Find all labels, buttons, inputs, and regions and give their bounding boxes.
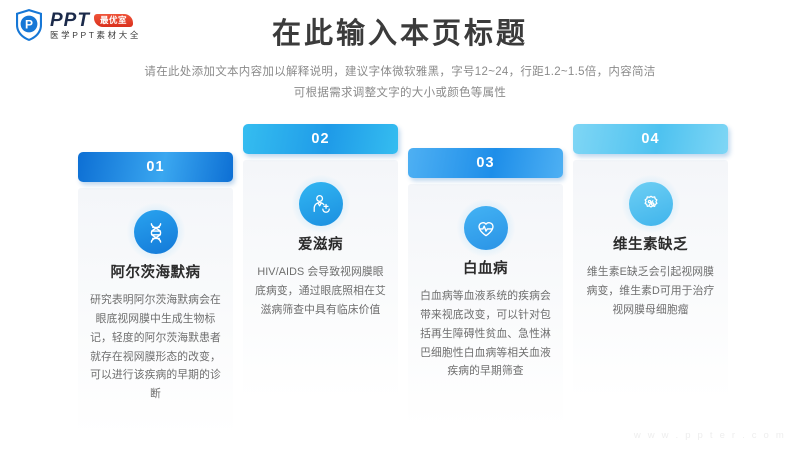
- card-03-number: 03: [476, 155, 494, 171]
- virus-cell-icon: [629, 182, 673, 226]
- card-03-icon-wrap: [464, 206, 508, 250]
- site-watermark: w w w . p p t e r . c o m: [634, 430, 786, 441]
- dna-icon: [134, 210, 178, 254]
- card-04-text: 维生素E缺乏会引起视网膜病变，维生素D可用于治疗视网膜母细胞瘤: [583, 263, 718, 320]
- card-04-body: 维生素缺乏 维生素E缺乏会引起视网膜病变，维生素D可用于治疗视网膜母细胞瘤: [573, 160, 728, 400]
- card-02-text: HIV/AIDS 会导致视网膜眼底病变，通过眼底照相在艾滋病筛查中具有临床价值: [253, 263, 388, 320]
- card-03-text: 白血病等血液系统的疾病会带来视底改变，可以针对包括再生障碍性贫血、急性淋巴细胞性…: [418, 287, 553, 381]
- card-04-number-badge: 04: [573, 124, 728, 154]
- card-01-title: 阿尔茨海默病: [88, 264, 223, 283]
- card-03-body: 白血病 白血病等血液系统的疾病会带来视底改变，可以针对包括再生障碍性贫血、急性淋…: [408, 184, 563, 428]
- card-02-number-badge: 02: [243, 124, 398, 154]
- card-02-number: 02: [311, 131, 329, 147]
- card-01-icon-wrap: [134, 210, 178, 254]
- card-02[interactable]: 02 爱滋病 HIV/AIDS 会导致视网膜眼底病变，通过眼底照相在艾滋病筛查中…: [243, 124, 398, 400]
- card-03-title: 白血病: [418, 260, 553, 279]
- card-02-title: 爱滋病: [253, 236, 388, 255]
- doctor-icon: [299, 182, 343, 226]
- card-03[interactable]: 03 白血病 白血病等血液系统的疾病会带来视底改变，可以针对包括再生障碍性贫血、…: [408, 148, 563, 428]
- card-02-icon-wrap: [299, 182, 343, 226]
- card-01-number: 01: [146, 159, 164, 175]
- card-04-icon-wrap: [629, 182, 673, 226]
- card-02-body: 爱滋病 HIV/AIDS 会导致视网膜眼底病变，通过眼底照相在艾滋病筛查中具有临…: [243, 160, 398, 400]
- card-04-title: 维生素缺乏: [583, 236, 718, 255]
- card-04[interactable]: 04 维生素缺乏 维生素E缺乏会引起视网膜病变，维生素D可用于治疗视网膜母细胞瘤: [573, 124, 728, 400]
- card-01-number-badge: 01: [78, 152, 233, 182]
- card-01-body: 阿尔茨海默病 研究表明阿尔茨海默病会在眼底视网膜中生成生物标记，轻度的阿尔茨海默…: [78, 188, 233, 436]
- heart-pulse-icon: [464, 206, 508, 250]
- card-01-text: 研究表明阿尔茨海默病会在眼底视网膜中生成生物标记，轻度的阿尔茨海默患者就存在视网…: [88, 291, 223, 404]
- card-group: 01 阿尔茨海默病 研究表明阿尔茨海默病会在眼底视网膜中生成生物标记，轻度的阿尔…: [0, 0, 800, 450]
- card-01[interactable]: 01 阿尔茨海默病 研究表明阿尔茨海默病会在眼底视网膜中生成生物标记，轻度的阿尔…: [78, 152, 233, 436]
- card-03-number-badge: 03: [408, 148, 563, 178]
- card-04-number: 04: [641, 131, 659, 147]
